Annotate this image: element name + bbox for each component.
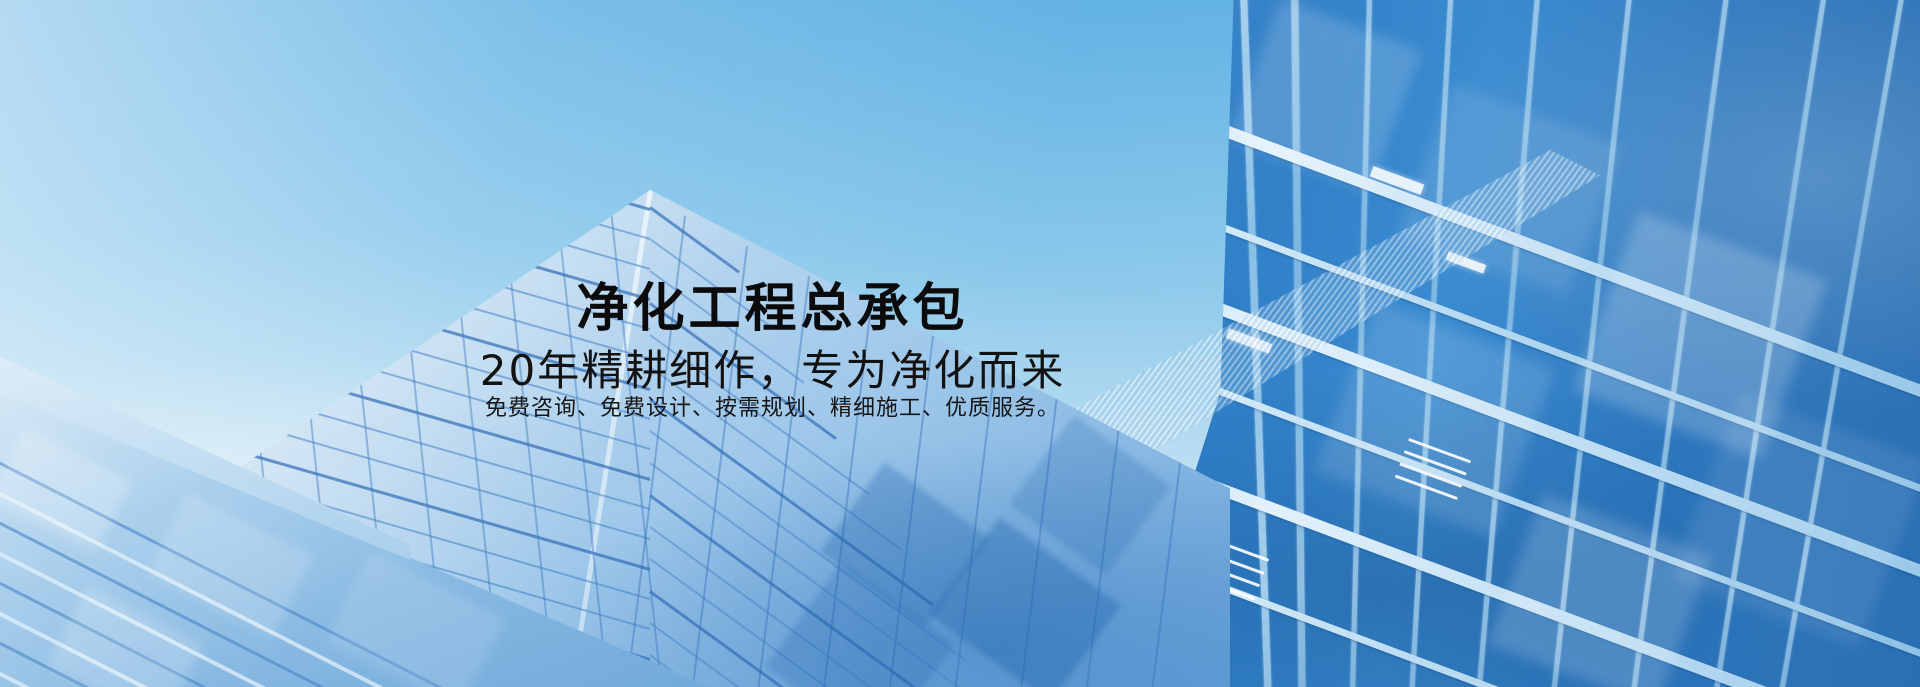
hero-tagline: 免费咨询、免费设计、按需规划、精细施工、优质服务。 (0, 396, 1545, 422)
hero-subtitle: 20年精耕细作，专为净化而来 (0, 347, 1545, 395)
page-title: 净化工程总承包 (0, 281, 1545, 338)
hero-banner: 净化工程总承包 20年精耕细作，专为净化而来 免费咨询、免费设计、按需规划、精细… (0, 0, 1920, 687)
